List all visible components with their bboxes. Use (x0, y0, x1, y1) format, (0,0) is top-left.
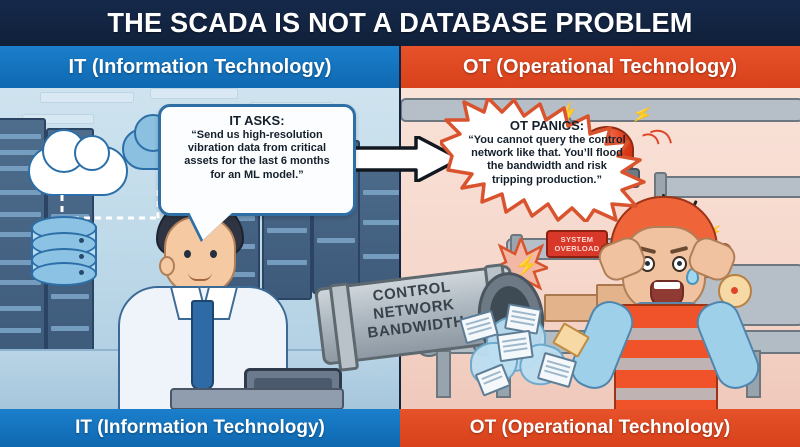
it-bubble-line-2: vibration data from critical (161, 142, 353, 155)
footer-it: IT (Information Technology) (0, 409, 400, 447)
database-icon (31, 216, 93, 280)
page-title: THE SCADA IS NOT A DATABASE PROBLEM (12, 0, 788, 46)
conveyor-leg (436, 350, 451, 398)
eye (184, 250, 191, 258)
keyboard (170, 388, 344, 409)
document-icon (496, 330, 534, 362)
ot-bubble-line-1: “You cannot query the control (462, 134, 632, 147)
eyebrow (670, 246, 688, 254)
ot-bubble-line-3: the bandwidth and risk (462, 160, 632, 173)
it-speech-bubble: IT ASKS: “Send us high-resolution vibrat… (158, 104, 356, 216)
it-bubble-speaker: IT ASKS: (161, 113, 353, 128)
ot-bubble-speaker: OT PANICS: (462, 118, 632, 133)
mouth (188, 272, 212, 281)
ear (159, 256, 175, 276)
infographic-canvas: THE SCADA IS NOT A DATABASE PROBLEM IT (… (0, 0, 800, 447)
bubble-tail (189, 212, 233, 240)
title-bar: THE SCADA IS NOT A DATABASE PROBLEM (0, 0, 800, 46)
ot-person (574, 196, 774, 409)
industrial-pipe (658, 176, 800, 198)
it-bubble-line-1: “Send us high-resolution (161, 129, 353, 142)
eye (210, 250, 217, 258)
ceiling-light (150, 88, 238, 99)
header-ot: OT (Operational Technology) (400, 46, 800, 88)
ot-bubble-line-2: network like that. You’ll flood (462, 147, 632, 160)
it-bubble-line-3: assets for the last 6 months (161, 155, 353, 168)
it-bubble-line-4: for an ML model.” (161, 169, 353, 182)
ot-bubble-line-4: tripping production.” (462, 174, 632, 187)
ot-burst-bubble: OT PANICS: “You cannot query the control… (440, 98, 654, 222)
ceiling-light (40, 92, 134, 103)
footer-ot: OT (Operational Technology) (400, 409, 800, 447)
eye (672, 256, 687, 272)
header-it: IT (Information Technology) (0, 46, 400, 88)
necktie (191, 300, 214, 390)
